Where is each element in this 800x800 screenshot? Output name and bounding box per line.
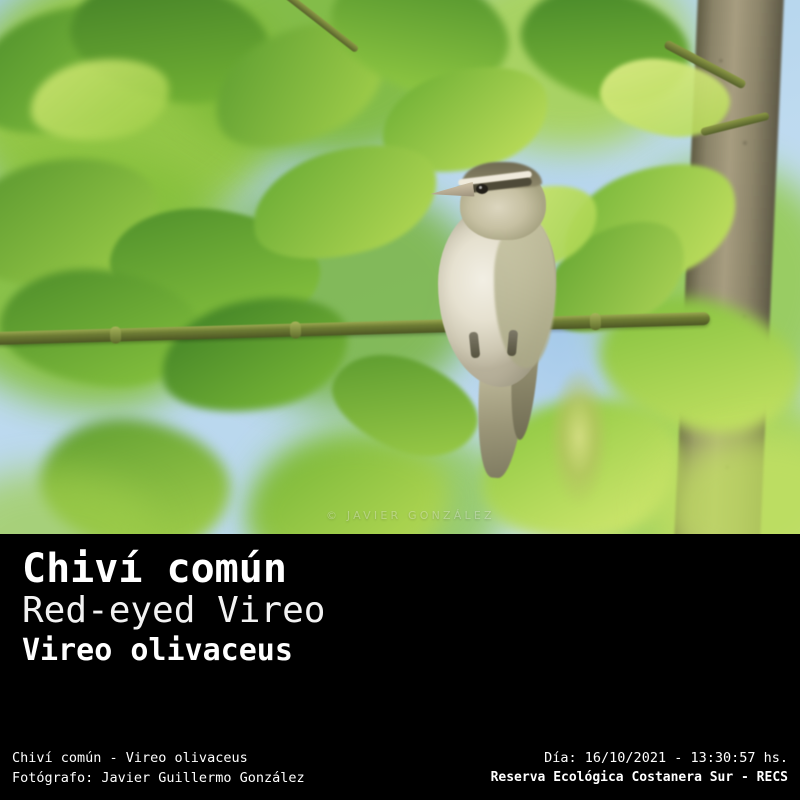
branch-node xyxy=(110,326,121,343)
photo-canvas: © JAVIER GONZÁLEZ xyxy=(0,0,800,534)
footer-left: Chiví común - Vireo olivaceus Fotógrafo:… xyxy=(12,748,305,788)
scientific-name: Vireo olivaceus xyxy=(22,634,293,668)
footer-photographer-line: Fotógrafo: Javier Guillermo González xyxy=(12,768,305,788)
branch-node xyxy=(590,313,601,330)
bird-photo-card: © JAVIER GONZÁLEZ Chiví común Red-eyed V… xyxy=(0,0,800,800)
footer-right: Día: 16/10/2021 - 13:30:57 hs. Reserva E… xyxy=(491,748,788,788)
footer-location-line: Reserva Ecológica Costanera Sur - RECS xyxy=(491,768,788,788)
common-name: Chiví común xyxy=(22,547,287,591)
photograph: © JAVIER GONZÁLEZ xyxy=(0,0,800,534)
photo-watermark: © JAVIER GONZÁLEZ xyxy=(326,509,495,522)
bird-eye xyxy=(476,184,488,194)
footer-datetime-line: Día: 16/10/2021 - 13:30:57 hs. xyxy=(491,748,788,768)
footer-species-line: Chiví común - Vireo olivaceus xyxy=(12,748,305,768)
bird-flank xyxy=(494,218,556,368)
english-name: Red-eyed Vireo xyxy=(22,591,325,631)
bird-red-eyed-vireo xyxy=(432,160,564,460)
branch-node xyxy=(290,321,301,338)
